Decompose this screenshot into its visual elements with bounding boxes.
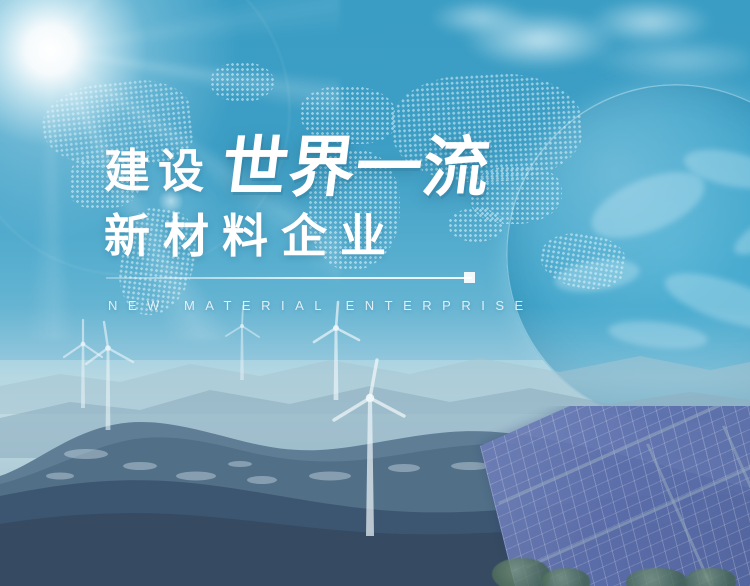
headline-line-2: 新材料企业 — [104, 213, 399, 259]
foliage — [542, 568, 590, 586]
foliage — [686, 568, 736, 586]
headline-prefix: 建设 — [104, 148, 212, 194]
solar-panel-array — [450, 406, 750, 586]
headline-emphasis: 世界一流 — [218, 136, 494, 199]
divider-end-cap — [464, 272, 475, 283]
headline-line-1: 建设 世界一流 — [104, 136, 490, 194]
headline-block: 建设 世界一流 新材料企业 NEW MATERIAL ENTERPRISE — [0, 0, 750, 340]
wind-turbine-icon — [330, 358, 408, 538]
hero-banner: 建设 世界一流 新材料企业 NEW MATERIAL ENTERPRISE — [0, 0, 750, 586]
subtitle: NEW MATERIAL ENTERPRISE — [108, 298, 534, 313]
landscape-scene — [0, 306, 750, 586]
divider — [106, 277, 472, 279]
